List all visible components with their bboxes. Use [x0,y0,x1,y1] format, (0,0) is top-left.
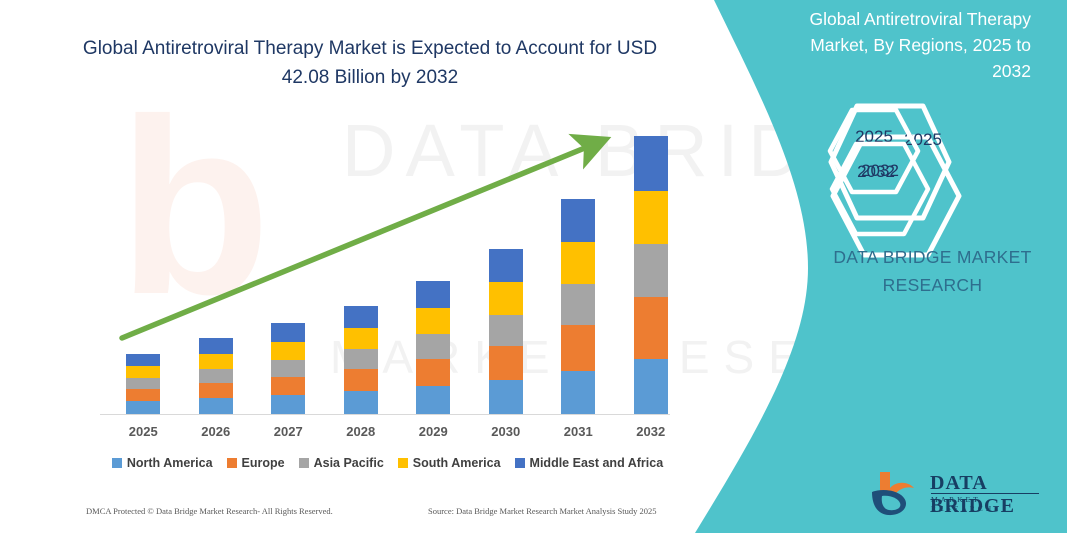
chart-title: Global Antiretroviral Therapy Market is … [60,34,680,92]
panel-brand-name: DATA BRIDGE MARKET RESEARCH [795,243,1067,299]
hex-2032-text: 2032 [828,161,932,181]
x-axis-label-2030: 2030 [476,424,536,439]
panel-brand-line-2: RESEARCH [795,271,1067,299]
x-axis-label-2027: 2027 [258,424,318,439]
legend-item-south-america[interactable]: South America [398,456,501,470]
legend-label: North America [127,456,213,470]
x-axis-label-2028: 2028 [331,424,391,439]
logo-secondary-text: MARKET RESEARCH [931,495,1043,513]
x-axis-label-2026: 2026 [186,424,246,439]
x-axis-label-2031: 2031 [548,424,608,439]
x-axis-label-2025: 2025 [113,424,173,439]
x-axis-label-2029: 2029 [403,424,463,439]
legend-swatch-icon [299,458,309,468]
legend-item-north-america[interactable]: North America [112,456,213,470]
legend-label: South America [413,456,501,470]
panel-title: Global Antiretroviral Therapy Market, By… [771,6,1031,84]
company-logo: DATA BRIDGE MARKET RESEARCH [868,470,1043,518]
legend-swatch-icon [112,458,122,468]
hex-2032-shape [828,140,932,238]
footer-copyright: DMCA Protected © Data Bridge Market Rese… [86,506,333,516]
x-axis-labels: 20252026202720282029203020312032 [100,424,680,444]
legend-swatch-icon [515,458,525,468]
logo-divider [931,493,1039,494]
footer-source: Source: Data Bridge Market Research Mark… [428,506,657,516]
logo-b-icon [868,470,926,518]
legend-label: Europe [242,456,285,470]
growth-arrow [100,120,680,415]
infographic-canvas: b DATA BRIDGE MARKET RESEARCH Global Ant… [0,0,1067,533]
legend-label: Asia Pacific [314,456,384,470]
legend-swatch-icon [398,458,408,468]
footer: DMCA Protected © Data Bridge Market Rese… [0,506,700,526]
panel-brand-line-1: DATA BRIDGE MARKET [795,243,1067,271]
legend-item-asia-pacific[interactable]: Asia Pacific [299,456,384,470]
legend-swatch-icon [227,458,237,468]
chart-legend: North AmericaEuropeAsia PacificSouth Ame… [100,456,675,470]
legend-item-europe[interactable]: Europe [227,456,285,470]
